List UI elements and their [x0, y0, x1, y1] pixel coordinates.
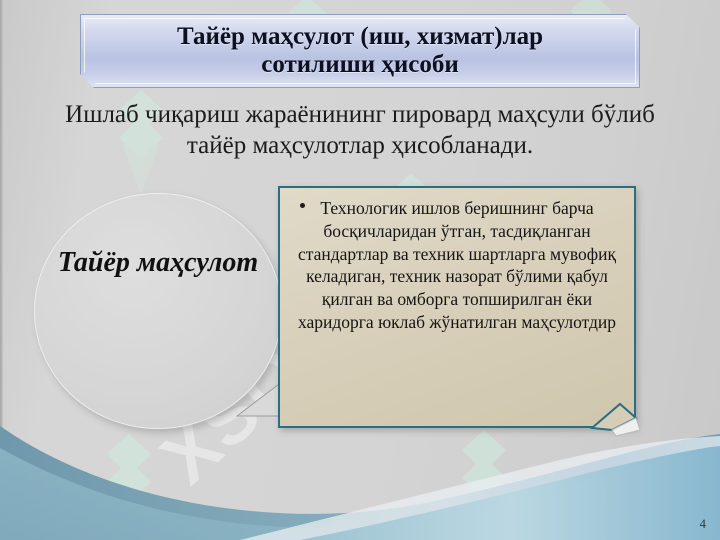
page-title: Тайёр маҳсулот (иш, хизмат)лар сотилиши …: [177, 23, 543, 80]
concept-circle-shape: [34, 193, 282, 429]
watermark-logo-bottom-mid: [448, 428, 520, 538]
slide-canvas: XSOFT: [0, 0, 720, 540]
page-number: 4: [700, 516, 707, 532]
slide-title-banner: Тайёр маҳсулот (иш, хизмат)лар сотилиши …: [80, 14, 640, 88]
callout-item-text: Технологик ишлов беришнинг барча босқичл…: [298, 198, 616, 332]
bullet-icon: [300, 203, 305, 208]
list-item: Технологик ишлов беришнинг барча босқичл…: [292, 197, 622, 334]
intro-paragraph: Ишлаб чиқариш жараёнининг пировард маҳсу…: [36, 100, 684, 161]
callout-list: Технологик ишлов беришнинг барча босқичл…: [292, 197, 622, 334]
watermark-logo-bottom-left: [93, 432, 165, 540]
definition-callout-box: Технологик ишлов беришнинг барча босқичл…: [278, 186, 636, 428]
concept-circle-label: Тайёр маҳсулот: [34, 247, 282, 279]
